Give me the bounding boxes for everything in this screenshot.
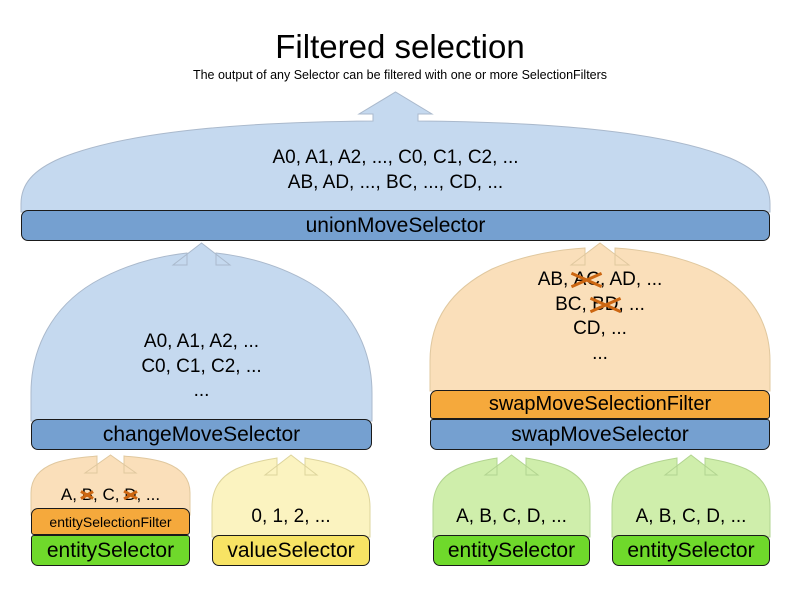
swap-move-selection-filter-label: swapMoveSelectionFilter — [489, 393, 711, 416]
entity-selection-filter-label: entitySelectionFilter — [49, 514, 171, 530]
diagram-canvas: Filtered selection The output of any Sel… — [0, 0, 800, 600]
value-selector-label: valueSelector — [227, 539, 354, 563]
swap-output-line-1-before: AB, — [538, 269, 574, 290]
entity-filtered-crossed-d: D — [124, 484, 136, 506]
change-move-selector-output: A0, A1, A2, ... C0, C1, C2, ... ... — [31, 330, 372, 404]
entity-selector-filtered-output: A, B, C, D, ... — [31, 484, 190, 506]
page-subtitle: The output of any Selector can be filter… — [0, 68, 800, 82]
entity-filtered-p3: , ... — [136, 485, 160, 504]
page-title: Filtered selection — [0, 28, 800, 66]
entity-selector-filtered-label: entitySelector — [47, 539, 174, 563]
union-move-selector-bar[interactable]: unionMoveSelector — [21, 210, 770, 241]
entity-selector-swap-left-label: entitySelector — [448, 539, 575, 563]
entity-filtered-output-line: A, B, C, D, ... — [31, 484, 190, 506]
union-output-line-1: A0, A1, A2, ..., C0, C1, C2, ... — [21, 146, 770, 171]
value-selector-bar[interactable]: valueSelector — [212, 535, 370, 566]
entity-selector-swap-right-label: entitySelector — [627, 539, 754, 563]
change-output-line-1: A0, A1, A2, ... — [31, 330, 372, 355]
swap-output-line-2-before: BC, — [555, 294, 592, 315]
entity-filtered-p1: A, — [61, 485, 82, 504]
entity-filtered-p2: , C, — [93, 485, 124, 504]
entity-selector-swap-right-bar[interactable]: entitySelector — [612, 535, 770, 566]
swap-output-line-1-after: , AD, ... — [600, 269, 662, 290]
union-move-selector-output: A0, A1, A2, ..., C0, C1, C2, ... AB, AD,… — [21, 146, 770, 195]
entity-swap-right-output-line: A, B, C, D, ... — [612, 505, 770, 530]
swap-output-line-3: CD, ... — [430, 317, 770, 342]
swap-move-selector-label: swapMoveSelector — [511, 423, 688, 447]
entity-swap-left-output-line: A, B, C, D, ... — [433, 505, 590, 530]
entity-selector-swap-right-output: A, B, C, D, ... — [612, 505, 770, 530]
entity-selector-swap-left-output: A, B, C, D, ... — [433, 505, 590, 530]
entity-selection-filter-bar[interactable]: entitySelectionFilter — [31, 508, 190, 535]
value-selector-output-line: 0, 1, 2, ... — [212, 505, 370, 530]
union-output-line-2: AB, AD, ..., BC, ..., CD, ... — [21, 171, 770, 196]
entity-selector-filtered-bar[interactable]: entitySelector — [31, 535, 190, 566]
swap-output-line-1-crossed: AC — [574, 268, 600, 293]
swap-move-selector-output: AB, AC, AD, ... BC, BD, ... CD, ... ... — [430, 268, 770, 367]
swap-output-line-2-after: , ... — [618, 294, 644, 315]
entity-filtered-crossed-b: B — [82, 484, 93, 506]
swap-move-selector-bar[interactable]: swapMoveSelector — [430, 419, 770, 450]
union-move-selector-label: unionMoveSelector — [306, 214, 486, 238]
change-move-selector-label: changeMoveSelector — [103, 423, 300, 447]
swap-output-line-1: AB, AC, AD, ... — [430, 268, 770, 293]
change-move-selector-bar[interactable]: changeMoveSelector — [31, 419, 372, 450]
change-output-line-2: C0, C1, C2, ... — [31, 355, 372, 380]
value-selector-output: 0, 1, 2, ... — [212, 505, 370, 530]
change-output-line-3: ... — [31, 379, 372, 404]
swap-output-line-2-crossed: BD — [592, 293, 618, 318]
entity-selector-swap-left-bar[interactable]: entitySelector — [433, 535, 590, 566]
swap-output-line-4: ... — [430, 342, 770, 367]
swap-output-line-2: BC, BD, ... — [430, 293, 770, 318]
swap-move-selection-filter-bar[interactable]: swapMoveSelectionFilter — [430, 390, 770, 419]
